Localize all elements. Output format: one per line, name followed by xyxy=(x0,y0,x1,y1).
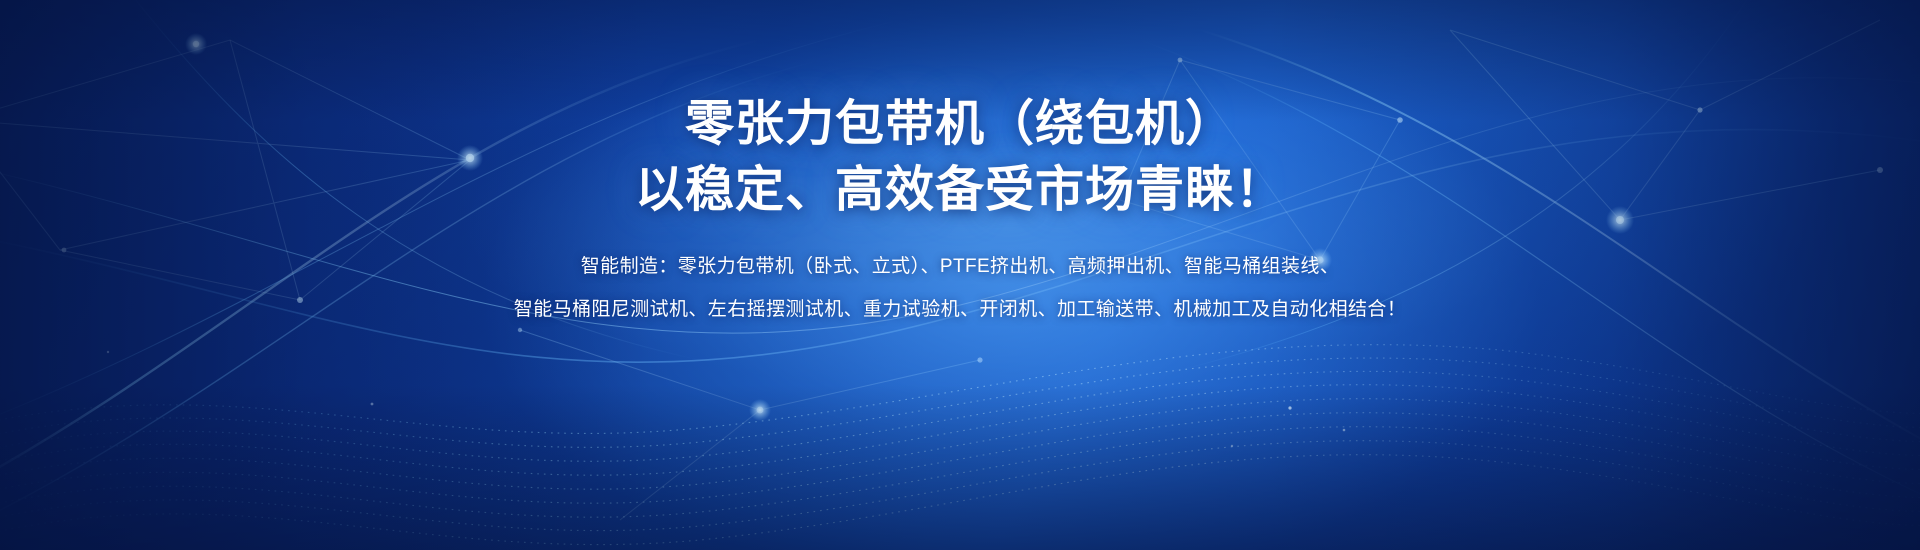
subtitle-line-1: 智能制造：零张力包带机（卧式、立式）、PTFE挤出机、高频押出机、智能马桶组装线… xyxy=(0,220,1920,281)
headline-line-1: 零张力包带机（绕包机） xyxy=(0,0,1920,154)
subtitle-line-2: 智能马桶阻尼测试机、左右摇摆测试机、重力试验机、开闭机、加工输送带、机械加工及自… xyxy=(0,281,1920,324)
headline-line-2: 以稳定、高效备受市场青睐！ xyxy=(0,154,1920,220)
promo-banner: 零张力包带机（绕包机） 以稳定、高效备受市场青睐！ 智能制造：零张力包带机（卧式… xyxy=(0,0,1920,550)
banner-content: 零张力包带机（绕包机） 以稳定、高效备受市场青睐！ 智能制造：零张力包带机（卧式… xyxy=(0,0,1920,325)
